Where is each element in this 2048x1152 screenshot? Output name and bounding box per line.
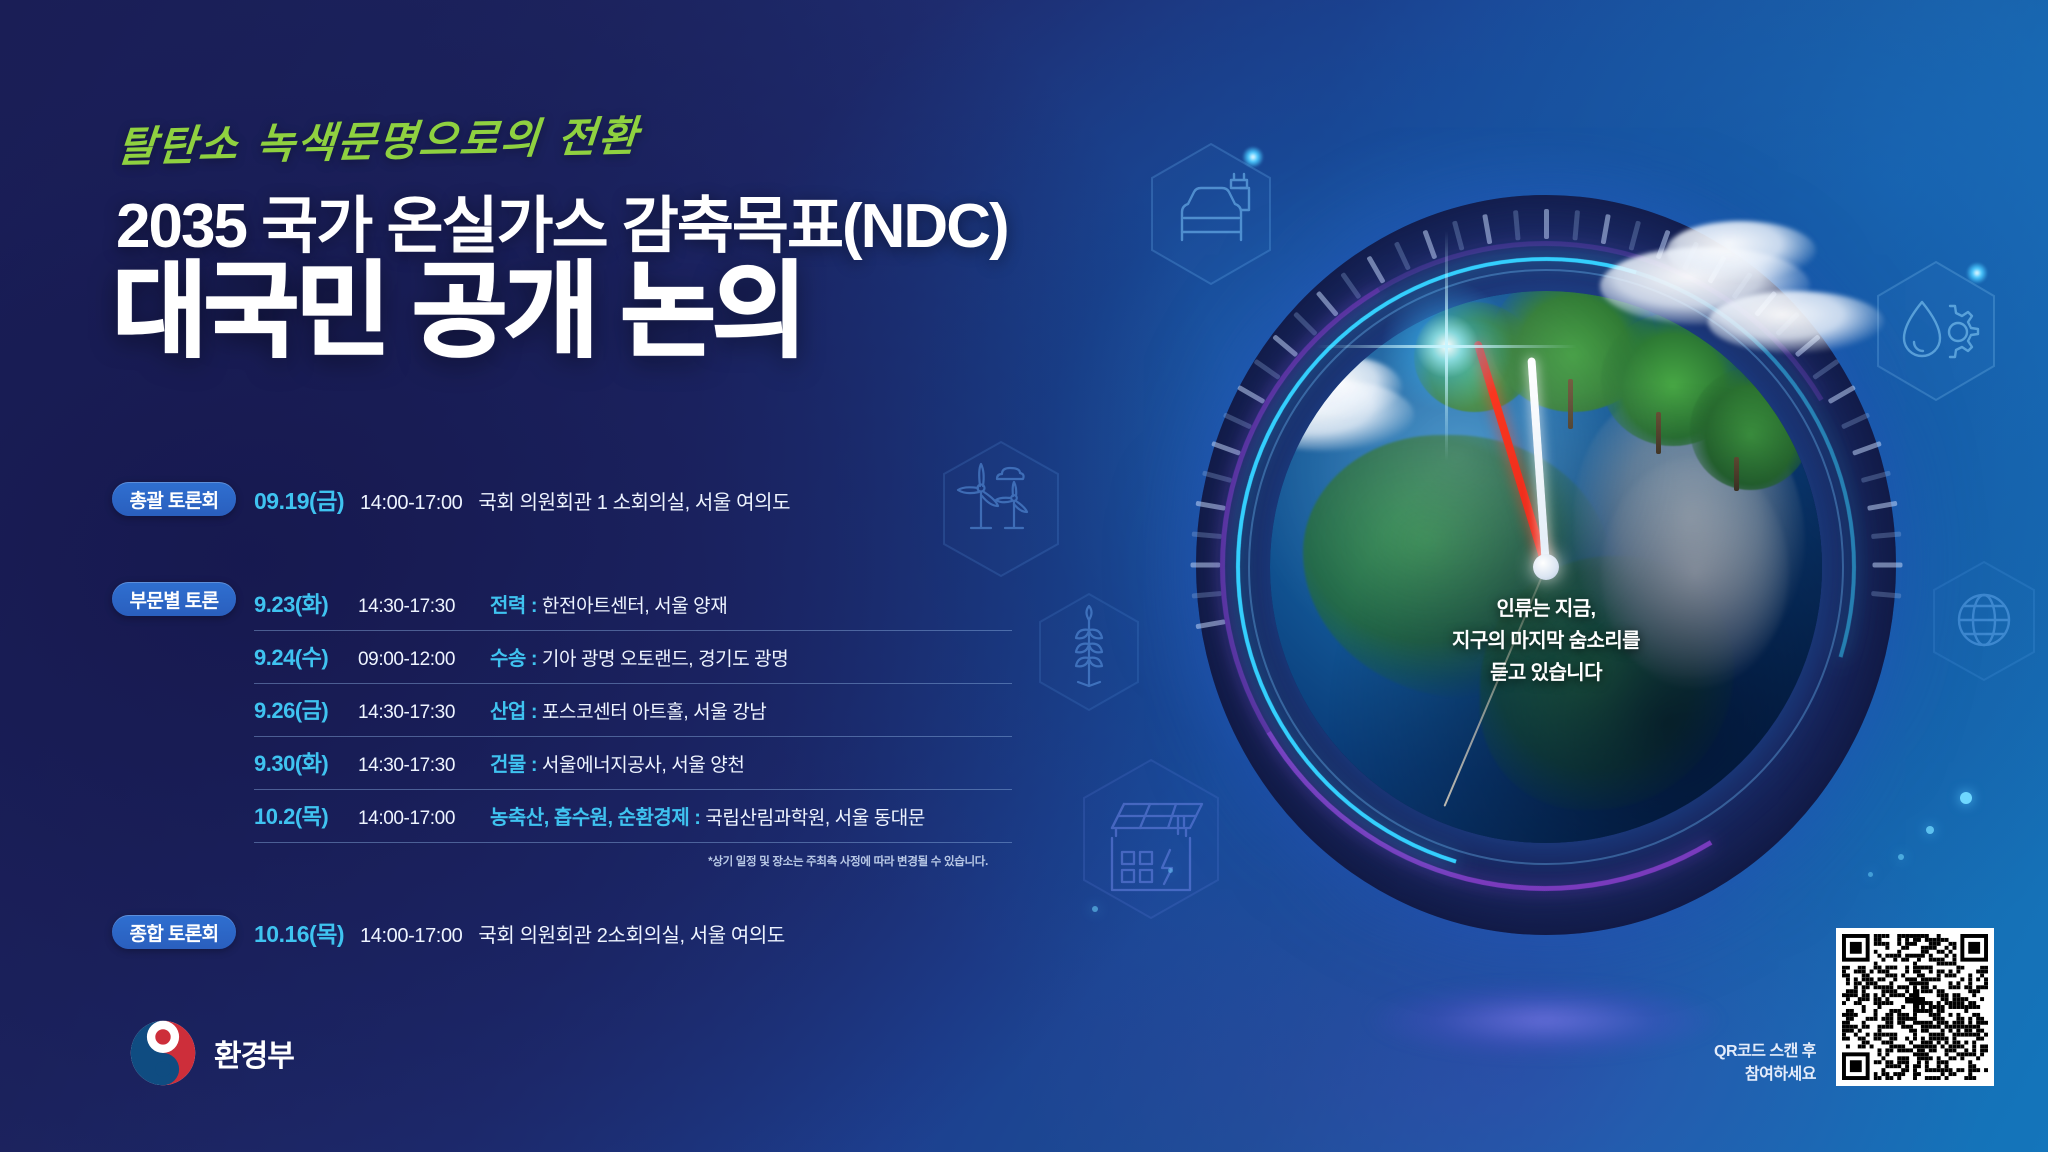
schedule-overall-row: 총괄 토론회 09.19(금) 14:00-17:00 국회 의원회관 1 소회…	[112, 482, 1012, 516]
page-title-line1: 2035 국가 온실가스 감축목표(NDC)	[116, 175, 1008, 265]
clock-pivot	[1533, 554, 1559, 580]
schedule-sectoral-block: 부문별 토론 9.23(화)14:30-17:30전력 : 한전아트센터, 서울…	[112, 578, 1012, 843]
taeguk-icon	[128, 1018, 198, 1088]
overall-date: 09.19(금)	[254, 482, 344, 516]
poster-root: 인류는 지금, 지구의 마지막 숨소리를 듣고 있습니다 탈탄소 녹색문명으로의…	[0, 0, 2048, 1152]
globe-message-line3: 듣고 있습니다	[1196, 657, 1896, 689]
badge-sectoral: 부문별 토론	[112, 582, 236, 616]
clock-tick	[1512, 210, 1520, 240]
qr-code[interactable]	[1836, 928, 1994, 1086]
sectoral-place: 서울에너지공사, 서울 양천	[537, 755, 744, 776]
sectoral-place: 국립산림과학원, 서울 동대문	[700, 808, 924, 829]
clock-hands	[1270, 291, 1822, 843]
final-time: 14:00-17:00	[360, 925, 462, 948]
sectoral-date: 9.23(화)	[254, 587, 358, 619]
qr-caption: QR코드 스캔 후 참여하세요	[1648, 1040, 1816, 1086]
sectoral-sector: 산업 :	[490, 701, 537, 723]
sectoral-place: 기아 광명 오토랜드, 경기도 광명	[537, 649, 788, 670]
schedule-section: 총괄 토론회 09.19(금) 14:00-17:00 국회 의원회관 1 소회…	[112, 482, 1012, 949]
sectoral-sector: 전력 :	[490, 595, 537, 617]
sectoral-row: 9.23(화)14:30-17:30전력 : 한전아트센터, 서울 양재	[254, 578, 1012, 631]
clock-tick	[1872, 563, 1902, 568]
sectoral-rows: 9.23(화)14:30-17:30전력 : 한전아트센터, 서울 양재9.24…	[254, 578, 1012, 843]
sectoral-sector: 농축산, 흡수원, 순환경제 :	[490, 807, 700, 829]
sectoral-date: 9.24(수)	[254, 640, 358, 672]
badge-final: 종합 토론회	[112, 915, 236, 949]
page-title-line2: 대국민 공개 논의	[112, 258, 804, 366]
sectoral-row: 9.24(수)09:00-12:00수송 : 기아 광명 오토랜드, 경기도 광…	[254, 631, 1012, 684]
final-place: 국회 의원회관 2소회의실, 서울 여의도	[478, 919, 785, 948]
lens-flare-bar	[1445, 231, 1448, 461]
clock-tick	[1572, 210, 1580, 240]
sectoral-place: 한전아트센터, 서울 양재	[537, 596, 727, 617]
sectoral-time: 14:30-17:30	[358, 755, 490, 777]
sectoral-row: 9.26(금)14:30-17:30산업 : 포스코센터 아트홀, 서울 강남	[254, 684, 1012, 737]
clock-tick	[1482, 214, 1492, 244]
globe-message: 인류는 지금, 지구의 마지막 숨소리를 듣고 있습니다	[1196, 593, 1896, 689]
sectoral-date: 10.2(목)	[254, 799, 358, 831]
clock-tick	[1628, 220, 1641, 250]
sectoral-time: 14:30-17:30	[358, 702, 490, 724]
globe-message-line2: 지구의 마지막 숨소리를	[1196, 625, 1896, 657]
sectoral-place: 포스코센터 아트홀, 서울 강남	[537, 702, 766, 723]
eyebrow-tagline: 탈탄소 녹색문명으로의 전환	[115, 103, 642, 175]
sectoral-sector: 건물 :	[490, 754, 537, 776]
sectoral-detail: 산업 : 포스코센터 아트홀, 서울 강남	[490, 695, 766, 724]
doomsday-clock-globe: 인류는 지금, 지구의 마지막 숨소리를 듣고 있습니다	[1196, 195, 1896, 935]
clock-tick	[1600, 214, 1610, 244]
sectoral-date: 9.26(금)	[254, 693, 358, 725]
sectoral-row: 10.2(목)14:00-17:00농축산, 흡수원, 순환경제 : 국립산림과…	[254, 790, 1012, 843]
clock-tick	[1366, 255, 1385, 283]
final-date: 10.16(목)	[254, 915, 344, 949]
ministry-logo: 환경부	[128, 1018, 294, 1088]
cloud	[1666, 221, 1816, 281]
sectoral-date: 9.30(화)	[254, 746, 358, 778]
sectoral-time: 14:00-17:00	[358, 808, 490, 830]
sectoral-time: 14:30-17:30	[358, 596, 490, 618]
sectoral-detail: 농축산, 흡수원, 순환경제 : 국립산림과학원, 서울 동대문	[490, 801, 925, 830]
schedule-note: *상기 일정 및 장소는 주최측 사정에 따라 변경될 수 있습니다.	[94, 853, 994, 869]
left-content: 탈탄소 녹색문명으로의 전환 2035 국가 온실가스 감축목표(NDC) 대국…	[0, 0, 1060, 1152]
badge-overall: 총괄 토론회	[112, 482, 236, 516]
schedule-final-row: 종합 토론회 10.16(목) 14:00-17:00 국회 의원회관 2소회의…	[112, 915, 1012, 949]
sectoral-detail: 수송 : 기아 광명 오토랜드, 경기도 광명	[490, 642, 788, 671]
overall-time: 14:00-17:00	[360, 492, 462, 515]
globe-message-line1: 인류는 지금,	[1196, 593, 1896, 625]
qr-caption-line1: QR코드 스캔 후	[1648, 1040, 1816, 1063]
sectoral-time: 09:00-12:00	[358, 649, 490, 671]
clock-tick	[1544, 209, 1549, 239]
clock-tick	[1190, 563, 1220, 568]
sectoral-sector: 수송 :	[490, 648, 537, 670]
clock-tick	[1422, 230, 1437, 260]
sectoral-detail: 전력 : 한전아트센터, 서울 양재	[490, 589, 727, 618]
clock-tick	[1451, 220, 1464, 250]
qr-caption-line2: 참여하세요	[1648, 1063, 1816, 1086]
ministry-name: 환경부	[214, 1031, 294, 1075]
clock-tick	[1393, 241, 1410, 270]
sectoral-detail: 건물 : 서울에너지공사, 서울 양천	[490, 748, 744, 777]
sectoral-row: 9.30(화)14:30-17:30건물 : 서울에너지공사, 서울 양천	[254, 737, 1012, 790]
overall-place: 국회 의원회관 1 소회의실, 서울 여의도	[478, 486, 790, 515]
